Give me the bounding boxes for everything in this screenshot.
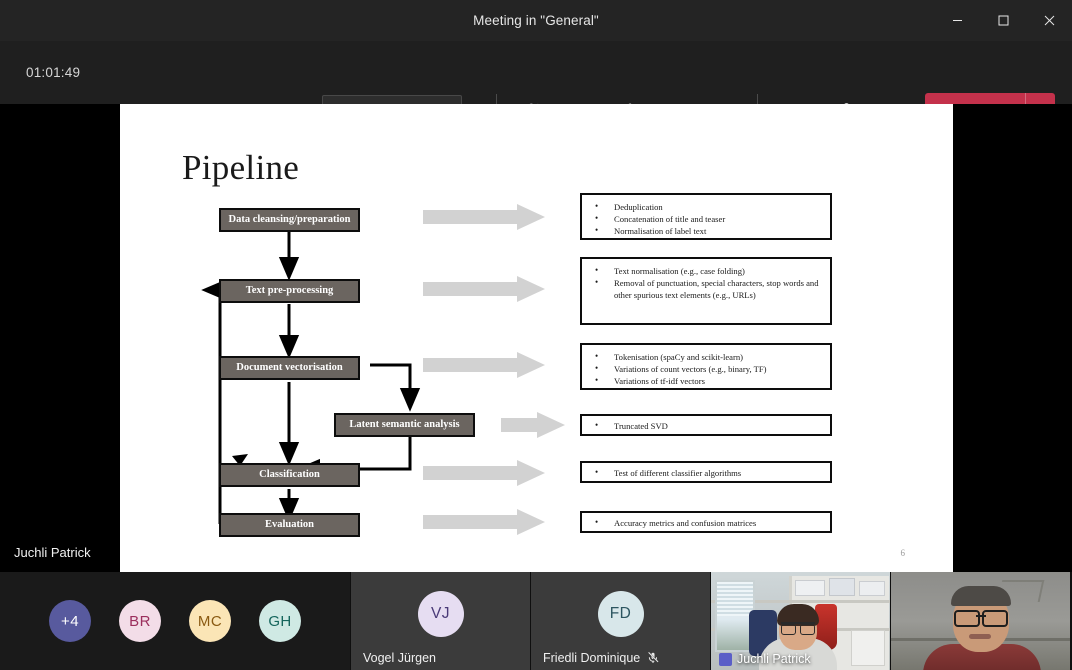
window-controls — [934, 0, 1072, 41]
window-title: Meeting in "General" — [473, 13, 599, 28]
callout-lsa: Truncated SVD — [580, 414, 832, 436]
avatar: VJ — [418, 591, 464, 637]
participant-name-text: Vogel Jürgen — [363, 651, 436, 665]
callout-preprocessing: Text normalisation (e.g., case folding) … — [580, 257, 832, 325]
callout-item: Truncated SVD — [592, 420, 822, 432]
shared-content-stage[interactable]: Juchli Patrick Pipeline 6 — [0, 104, 1072, 572]
participant-name-juchli-patrick: Juchli Patrick — [719, 652, 811, 666]
overflow-avatars: +4 BR MC GH — [0, 572, 350, 670]
callout-item: Deduplication — [592, 201, 822, 213]
participant-name-text: Juchli Patrick — [737, 652, 811, 666]
participant-name-friedli-dominique: Friedli Dominique — [543, 651, 660, 665]
participant-name-vogel-juergen: Vogel Jürgen — [363, 651, 436, 665]
close-button[interactable] — [1026, 0, 1072, 41]
slide-title: Pipeline — [182, 148, 299, 188]
teams-meeting-window: Meeting in "General" 01:01:49 Request co… — [0, 0, 1072, 670]
flow-box-text-preprocessing: Text pre-processing — [219, 279, 360, 303]
flow-box-data-cleansing: Data cleansing/preparation — [219, 208, 360, 232]
shared-slide: Pipeline 6 — [120, 104, 953, 572]
muted-microphone-icon — [646, 651, 660, 665]
maximize-button[interactable] — [980, 0, 1026, 41]
minimize-button[interactable] — [934, 0, 980, 41]
callout-item: Accuracy metrics and confusion matrices — [592, 517, 822, 529]
window-title-bar: Meeting in "General" — [0, 0, 1072, 41]
callout-vectorisation: Tokenisation (spaCy and scikit-learn) Va… — [580, 343, 832, 390]
block-arrow — [423, 204, 565, 535]
participant-tile-juchli-patrick[interactable]: Juchli Patrick — [710, 572, 890, 670]
participant-tile-vogel-juergen[interactable]: VJ Vogel Jürgen — [350, 572, 530, 670]
pin-badge — [719, 653, 732, 666]
avatar-mc[interactable]: MC — [189, 600, 231, 642]
avatar-gh[interactable]: GH — [259, 600, 301, 642]
participant-tile-friedli-dominique[interactable]: FD Friedli Dominique — [530, 572, 710, 670]
presenter-name-label: Juchli Patrick — [14, 545, 91, 560]
callout-item: Variations of tf-idf vectors — [592, 375, 822, 387]
flow-box-evaluation: Evaluation — [219, 513, 360, 537]
video-feed — [891, 572, 1070, 670]
meeting-timer: 01:01:49 — [26, 65, 80, 80]
meeting-toolbar: 01:01:49 Request control — [0, 41, 1072, 104]
participant-name-text: Friedli Dominique — [543, 651, 640, 665]
flow-box-classification: Classification — [219, 463, 360, 487]
callout-classification: Test of different classifier algorithms — [580, 461, 832, 483]
slide-page-number: 6 — [901, 548, 906, 558]
callout-item: Text normalisation (e.g., case folding) — [592, 265, 822, 277]
callout-item: Test of different classifier algorithms — [592, 467, 822, 479]
flow-box-document-vectorisation: Document vectorisation — [219, 356, 360, 380]
callout-item: Variations of count vectors (e.g., binar… — [592, 363, 822, 375]
callout-item: Removal of punctuation, special characte… — [592, 277, 822, 301]
participant-tile-video-2[interactable] — [890, 572, 1070, 670]
participant-filmstrip: +4 BR MC GH VJ Vogel Jürgen FD Friedli D… — [0, 572, 1072, 670]
callout-item: Concatenation of title and teaser — [592, 213, 822, 225]
callout-cleansing: Deduplication Concatenation of title and… — [580, 193, 832, 240]
callout-item: Tokenisation (spaCy and scikit-learn) — [592, 351, 822, 363]
callout-item: Normalisation of label text — [592, 225, 822, 237]
callout-evaluation: Accuracy metrics and confusion matrices — [580, 511, 832, 533]
avatar-br[interactable]: BR — [119, 600, 161, 642]
avatar: FD — [598, 591, 644, 637]
avatar-overflow-count[interactable]: +4 — [49, 600, 91, 642]
flow-box-latent-semantic-analysis: Latent semantic analysis — [334, 413, 475, 437]
